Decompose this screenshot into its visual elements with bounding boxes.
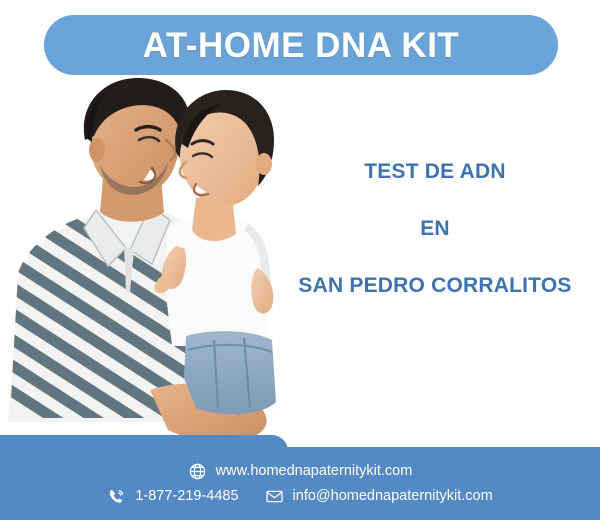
headline-line-test-de-adn: TEST DE ADN	[276, 160, 594, 183]
footer-email-item[interactable]: info@homednapaternitykit.com	[265, 487, 493, 506]
promo-card: AT-HOME DNA KIT	[0, 0, 600, 520]
footer-contact-info: www.homednapaternitykit.com 1-877-219-44…	[0, 447, 600, 520]
headline-line-location: SAN PEDRO CORRALITOS	[276, 274, 594, 297]
footer-phone-item[interactable]: 1-877-219-4485	[107, 487, 238, 506]
phone-icon	[107, 487, 126, 506]
footer-phone-text: 1-877-219-4485	[135, 489, 238, 504]
headline-line-en: EN	[276, 217, 594, 240]
envelope-icon	[265, 487, 284, 506]
footer-row-phone-email: 1-877-219-4485 info@homednapaternitykit.…	[107, 487, 492, 506]
footer-row-website: www.homednapaternitykit.com	[188, 462, 413, 481]
page-title: AT-HOME DNA KIT	[143, 28, 460, 63]
footer-website-text: www.homednapaternitykit.com	[216, 464, 413, 479]
footer-email-text: info@homednapaternitykit.com	[293, 489, 493, 504]
header-banner: AT-HOME DNA KIT	[44, 15, 558, 75]
footer-website-item[interactable]: www.homednapaternitykit.com	[188, 462, 413, 481]
headline-block: TEST DE ADN EN SAN PEDRO CORRALITOS	[276, 160, 594, 297]
globe-icon	[188, 462, 207, 481]
